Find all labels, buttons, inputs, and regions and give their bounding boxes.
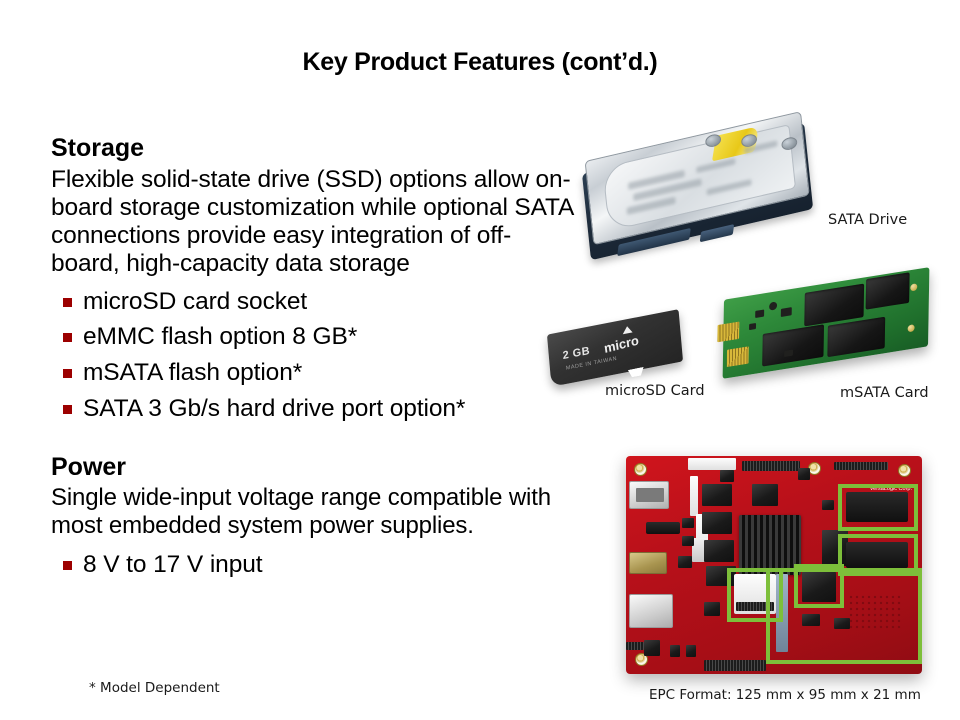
footnote: * Model Dependent (89, 680, 220, 696)
square-bullet-icon (63, 369, 72, 378)
square-bullet-icon (63, 333, 72, 342)
square-bullet-icon (63, 298, 72, 307)
microsd-card-image: 2 GB micro MADE IN TAIWAN (548, 316, 698, 390)
gold-edge-connector (727, 346, 749, 367)
power-block: Power Single wide-input voltage range co… (51, 453, 576, 583)
controller-chip (752, 484, 778, 506)
highlight-box-microsd-socket (727, 568, 783, 622)
smd-component (704, 602, 720, 616)
list-item-label: mSATA flash option* (83, 359, 302, 386)
list-item: SATA 3 Gb/s hard drive port option* (51, 391, 576, 427)
white-connector (688, 458, 736, 470)
gold-edge-connector (717, 322, 739, 343)
power-body: Single wide-input voltage range compatib… (51, 484, 576, 539)
hard-drive-body (580, 108, 817, 264)
flash-chip (827, 317, 885, 358)
cpu-heatsink (739, 515, 801, 575)
mounting-hole (634, 463, 647, 476)
smd-component (822, 500, 834, 510)
storage-heading: Storage (51, 134, 576, 164)
smd-component (798, 468, 810, 480)
highlight-box-emmc (794, 564, 844, 608)
hdmi-port (629, 552, 667, 574)
smd-component (644, 640, 660, 656)
microsd-brand-label: micro (603, 332, 640, 355)
microsd-card-body: 2 GB micro MADE IN TAIWAN (547, 309, 683, 387)
smd-component (686, 645, 696, 657)
dram-chip (702, 512, 732, 534)
page-title: Key Product Features (cont’d.) (0, 48, 960, 77)
content-text-column: Storage Flexible solid-state drive (SSD)… (51, 134, 576, 583)
ethernet-port (629, 594, 673, 628)
msata-pcb (723, 267, 930, 379)
smd-component (670, 645, 680, 657)
board-caption: EPC Format: 125 mm x 95 mm x 21 mm (649, 687, 921, 703)
list-item-label: microSD card socket (83, 288, 307, 315)
microsd-card-caption: microSD Card (605, 383, 705, 399)
mounting-hole (898, 464, 911, 477)
white-connector (690, 476, 698, 516)
power-bullet-list: 8 V to 17 V input (51, 547, 576, 583)
dram-chip (702, 484, 732, 506)
list-item: mSATA flash option* (51, 355, 576, 391)
flash-chip (804, 284, 864, 327)
mounting-pad (908, 324, 915, 332)
smd-component (678, 556, 692, 568)
list-item-label: 8 V to 17 V input (83, 551, 262, 578)
pin-header (834, 462, 888, 470)
power-heading: Power (51, 453, 576, 483)
sata-drive-caption: SATA Drive (828, 212, 907, 228)
epc-board-image: VersaLogic Corp. P-10080-E2 (626, 456, 922, 674)
smd-component (755, 310, 764, 319)
sata-drive-image (575, 128, 825, 248)
square-bullet-icon (63, 405, 72, 414)
list-item-label: eMMC flash option 8 GB* (83, 323, 357, 350)
msata-card-caption: mSATA Card (840, 385, 929, 401)
smd-component (720, 470, 734, 482)
storage-block: Storage Flexible solid-state drive (SSD)… (51, 134, 576, 427)
pin-header (626, 642, 644, 650)
smd-component (769, 301, 777, 310)
smd-component (781, 307, 792, 317)
list-item: microSD card socket (51, 284, 576, 320)
microsd-capacity-label: 2 GB (562, 345, 590, 362)
storage-body: Flexible solid-state drive (SSD) options… (51, 166, 576, 278)
highlight-box-storage-region (766, 568, 922, 664)
pin-header (704, 660, 766, 671)
jumper-block (646, 522, 680, 534)
smd-component (682, 518, 694, 528)
list-item: eMMC flash option 8 GB* (51, 319, 576, 355)
highlight-box-sata-data (838, 484, 918, 531)
smd-component (682, 536, 694, 546)
mounting-pad (910, 283, 917, 291)
list-item-label: SATA 3 Gb/s hard drive port option* (83, 395, 465, 422)
pin-header (742, 461, 800, 471)
flash-chip (866, 272, 910, 309)
msata-card-image (722, 280, 947, 390)
square-bullet-icon (63, 561, 72, 570)
usb-port (629, 481, 669, 509)
storage-bullet-list: microSD card socket eMMC flash option 8 … (51, 284, 576, 427)
flash-chip (762, 324, 824, 366)
list-item: 8 V to 17 V input (51, 547, 576, 583)
dram-chip (704, 540, 734, 562)
smd-component (749, 323, 756, 330)
